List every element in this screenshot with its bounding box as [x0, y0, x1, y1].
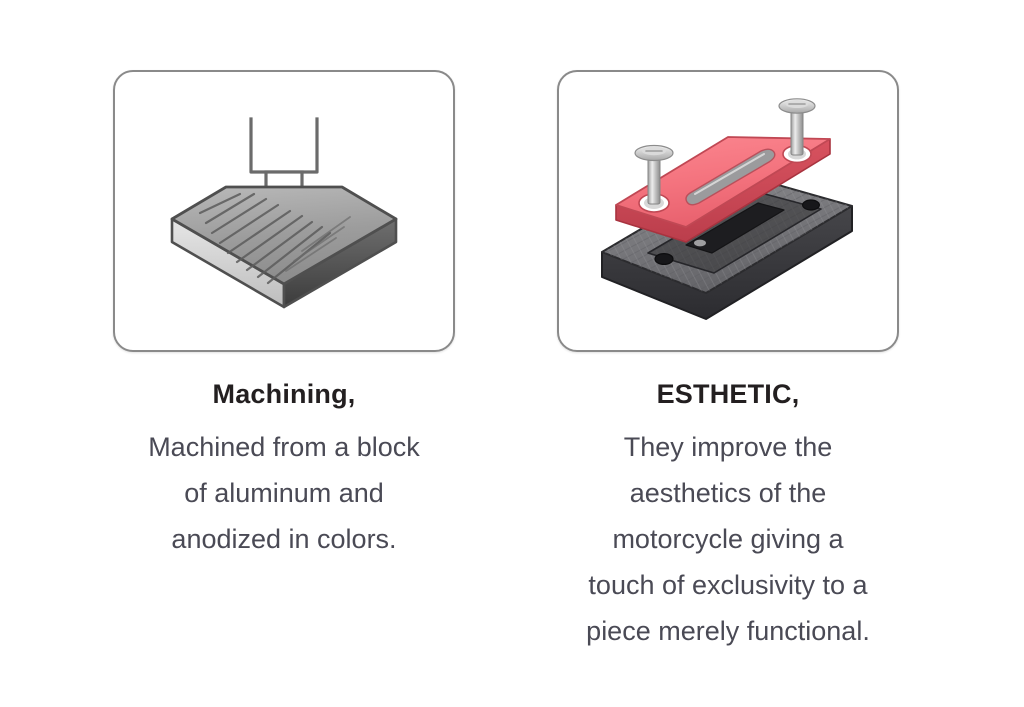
feature-body-line: aesthetics of the [586, 470, 870, 516]
features-page: Machining, Machined from a block of alum… [0, 0, 1024, 707]
feature-body-line: Machined from a block [148, 424, 420, 470]
feature-body-line: piece merely functional. [586, 608, 870, 654]
feature-body-line: touch of exclusivity to a [586, 562, 870, 608]
feature-title-machining: Machining, [213, 378, 356, 410]
spindle-bracket-icon [251, 119, 317, 172]
feature-body-esthetic: They improve the aesthetics of the motor… [586, 424, 870, 654]
feature-body-line: of aluminum and [148, 470, 420, 516]
feature-body-line: motorcycle giving a [586, 516, 870, 562]
esthetic-plate-icon [578, 81, 878, 341]
cnc-machining-icon [154, 101, 414, 321]
icon-card-esthetic[interactable] [557, 70, 899, 352]
feature-body-machining: Machined from a block of aluminum and an… [148, 424, 420, 562]
slot-highlight [694, 240, 706, 247]
base-screw-hole-left [655, 254, 673, 265]
feature-card-machining: Machining, Machined from a block of alum… [69, 0, 499, 654]
feature-body-line: They improve the [586, 424, 870, 470]
machined-block-icon [172, 187, 396, 307]
feature-body-line: anodized in colors. [148, 516, 420, 562]
icon-card-machining[interactable] [113, 70, 455, 352]
feature-title-esthetic: ESTHETIC, [657, 378, 800, 410]
features-row: Machining, Machined from a block of alum… [0, 0, 1024, 654]
feature-card-esthetic: ESTHETIC, They improve the aesthetics of… [513, 0, 943, 654]
base-screw-hole-right [803, 200, 820, 210]
